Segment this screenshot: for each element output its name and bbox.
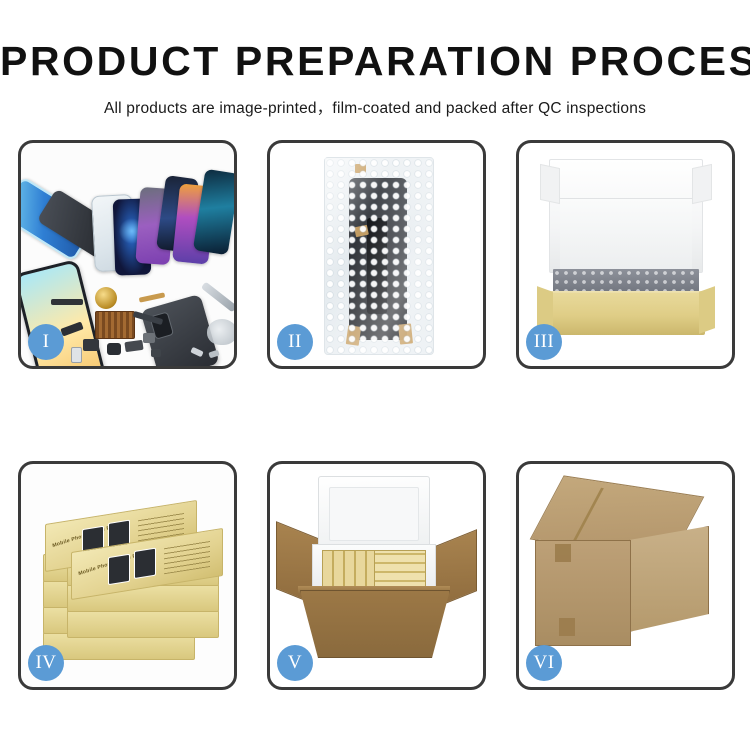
- carton-front-face: [300, 590, 450, 658]
- box-stack: Mobile Phone Spare Parts Mobile Phone Sp…: [31, 482, 227, 674]
- speaker-component: [95, 287, 117, 309]
- small-component-1: [83, 339, 99, 351]
- small-component-2: [107, 343, 121, 355]
- step-badge-3: III: [526, 324, 562, 360]
- carton-side-face: [629, 526, 709, 632]
- carton-tape-1: [555, 544, 571, 562]
- process-step-grid: I II: [18, 140, 734, 690]
- box-label-screen-image-3: [108, 554, 130, 585]
- step-badge-1: I: [28, 324, 64, 360]
- carton-front-panel: [535, 540, 631, 646]
- carton-tape-2: [559, 618, 575, 636]
- page-title: PRODUCT PREPARATION PROCESS: [0, 40, 750, 83]
- tweezers-tool: [201, 282, 234, 313]
- process-step-6: VI: [516, 461, 735, 690]
- process-step-4: Mobile Phone Spare Parts Mobile Phone Sp…: [18, 461, 237, 690]
- sim-tray-component: [71, 347, 82, 363]
- process-step-2: II: [267, 140, 486, 369]
- process-step-5: V: [267, 461, 486, 690]
- yellow-box-body: [547, 293, 705, 335]
- circuit-board-component: [95, 311, 135, 339]
- repair-tool: [207, 319, 234, 345]
- small-component-3: [124, 340, 143, 352]
- flex-cable-1: [51, 299, 83, 305]
- box-lid-inner-panel: [560, 198, 692, 272]
- step-badge-6: VI: [526, 645, 562, 681]
- packed-yellow-boxes-stack: [374, 550, 426, 590]
- process-step-3: III: [516, 140, 735, 369]
- phone-display-teal: [193, 169, 234, 255]
- styrofoam-lid: [318, 476, 430, 550]
- bubble-wrap-bag: [324, 157, 434, 355]
- stacked-box-5: [67, 610, 219, 638]
- box-label-screen-image-4: [134, 548, 156, 579]
- process-step-1: I: [18, 140, 237, 369]
- step-badge-2: II: [277, 324, 313, 360]
- flex-cable-2: [139, 292, 165, 302]
- product-preparation-infographic: PRODUCT PREPARATION PROCESS All products…: [0, 0, 750, 750]
- header: PRODUCT PREPARATION PROCESS All products…: [0, 0, 750, 118]
- plastic-sheen: [325, 158, 433, 354]
- step-badge-4: IV: [28, 645, 64, 681]
- small-component-5: [151, 349, 161, 357]
- step-badge-5: V: [277, 645, 313, 681]
- page-subtitle: All products are image-printed，film-coat…: [0, 96, 750, 118]
- white-box-lid: [549, 159, 703, 273]
- box-label-text-lines-front: [164, 539, 210, 574]
- small-component-4: [143, 333, 155, 343]
